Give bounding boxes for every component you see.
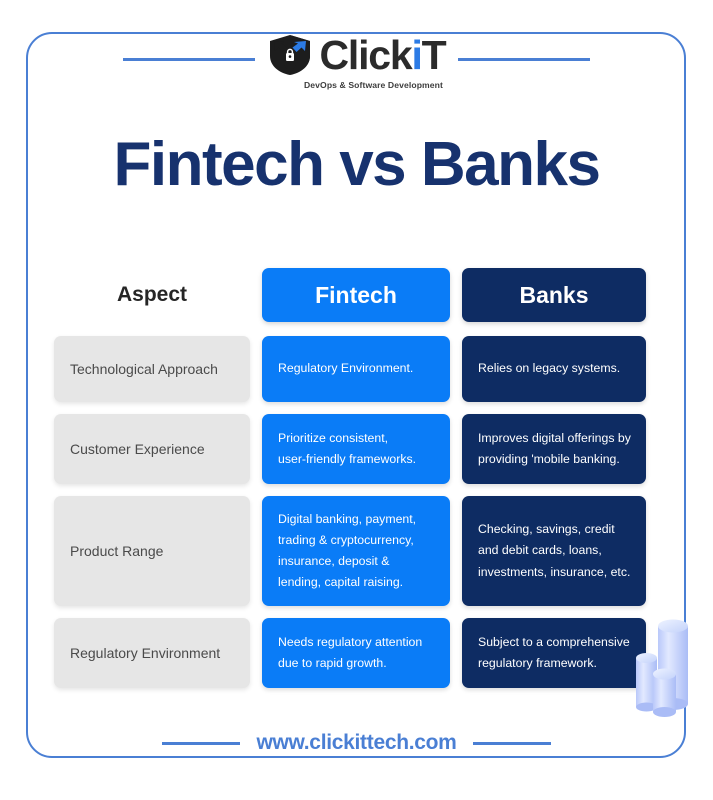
cell-text-line: providing 'mobile banking. <box>478 449 630 470</box>
infographic-page: ClickiT DevOps & Software Development Fi… <box>0 0 713 800</box>
banks-cell: Relies on legacy systems. <box>462 336 646 402</box>
banks-cell: Subject to a comprehensiveregulatory fra… <box>462 618 646 688</box>
banks-cell-lines: Checking, savings, creditand debit cards… <box>478 519 630 582</box>
aspect-cell: Technological Approach <box>54 336 250 402</box>
column-header-fintech: Fintech <box>262 268 450 322</box>
cell-text-line: investments, insurance, etc. <box>478 562 630 583</box>
logo-row: ClickiT <box>267 34 445 76</box>
fintech-cell: Needs regulatory attentiondue to rapid g… <box>262 618 450 688</box>
cell-text-line: Needs regulatory attention <box>278 632 434 653</box>
cell-text-line: due to rapid growth. <box>278 653 434 674</box>
banks-cell: Checking, savings, creditand debit cards… <box>462 496 646 606</box>
aspect-cell: Customer Experience <box>54 414 250 484</box>
banks-cell-lines: Subject to a comprehensiveregulatory fra… <box>478 632 630 674</box>
table-row: Regulatory Environment Needs regulatory … <box>54 618 646 688</box>
fintech-cell-lines: Prioritize consistent,user-friendly fram… <box>278 428 434 470</box>
header-rule-right <box>458 58 590 61</box>
logo-word-i: i <box>411 32 421 78</box>
header-rule-left <box>123 58 255 61</box>
shield-lock-arrows-icon <box>267 34 313 76</box>
fintech-cell-lines: Needs regulatory attentiondue to rapid g… <box>278 632 434 674</box>
website-url[interactable]: www.clickittech.com <box>240 731 472 755</box>
aspect-cell: Product Range <box>54 496 250 606</box>
banks-cell-lines: Improves digital offerings byproviding '… <box>478 428 630 470</box>
table-row: Technological Approach Regulatory Enviro… <box>54 336 646 402</box>
footer: www.clickittech.com <box>0 731 713 755</box>
aspect-cell: Regulatory Environment <box>54 618 250 688</box>
logo-word-click: Click <box>319 32 411 78</box>
cell-text-line: Relies on legacy systems. <box>478 358 630 379</box>
fintech-cell-lines: Regulatory Environment. <box>278 358 434 379</box>
table-row: Customer Experience Prioritize consisten… <box>54 414 646 484</box>
table-header-row: Aspect Fintech Banks <box>54 268 646 322</box>
footer-rule-left <box>162 742 240 745</box>
cell-text-line: Regulatory Environment. <box>278 358 434 379</box>
comparison-table: Aspect Fintech Banks Technological Appro… <box>54 268 646 700</box>
cell-text-line: trading & cryptocurrency, <box>278 530 434 551</box>
column-header-aspect: Aspect <box>54 268 250 322</box>
brand-logo: ClickiT DevOps & Software Development <box>255 34 457 90</box>
cell-text-line: Improves digital offerings by <box>478 428 630 449</box>
cell-text-line: Prioritize consistent, <box>278 428 434 449</box>
cell-text-line: user-friendly frameworks. <box>278 449 434 470</box>
cell-text-line: insurance, deposit & <box>278 551 434 572</box>
cell-text-line: Subject to a comprehensive <box>478 632 630 653</box>
brand-header: ClickiT DevOps & Software Development <box>0 34 713 100</box>
column-header-banks: Banks <box>462 268 646 322</box>
decorative-cylinders <box>634 608 713 718</box>
fintech-cell-lines: Digital banking, payment,trading & crypt… <box>278 509 434 594</box>
page-title: Fintech vs Banks <box>0 132 713 197</box>
cell-text-line: regulatory framework. <box>478 653 630 674</box>
cell-text-line: and debit cards, loans, <box>478 540 630 561</box>
logo-word-t: T <box>422 32 446 78</box>
fintech-cell: Regulatory Environment. <box>262 336 450 402</box>
footer-rule-right <box>473 742 551 745</box>
banks-cell: Improves digital offerings byproviding '… <box>462 414 646 484</box>
banks-cell-lines: Relies on legacy systems. <box>478 358 630 379</box>
logo-wordmark: ClickiT <box>319 35 445 76</box>
cell-text-line: Checking, savings, credit <box>478 519 630 540</box>
table-row: Product Range Digital banking, payment,t… <box>54 496 646 606</box>
fintech-cell: Digital banking, payment,trading & crypt… <box>262 496 450 606</box>
cell-text-line: Digital banking, payment, <box>278 509 434 530</box>
fintech-cell: Prioritize consistent,user-friendly fram… <box>262 414 450 484</box>
cell-text-line: lending, capital raising. <box>278 572 434 593</box>
logo-tagline: DevOps & Software Development <box>304 80 443 90</box>
